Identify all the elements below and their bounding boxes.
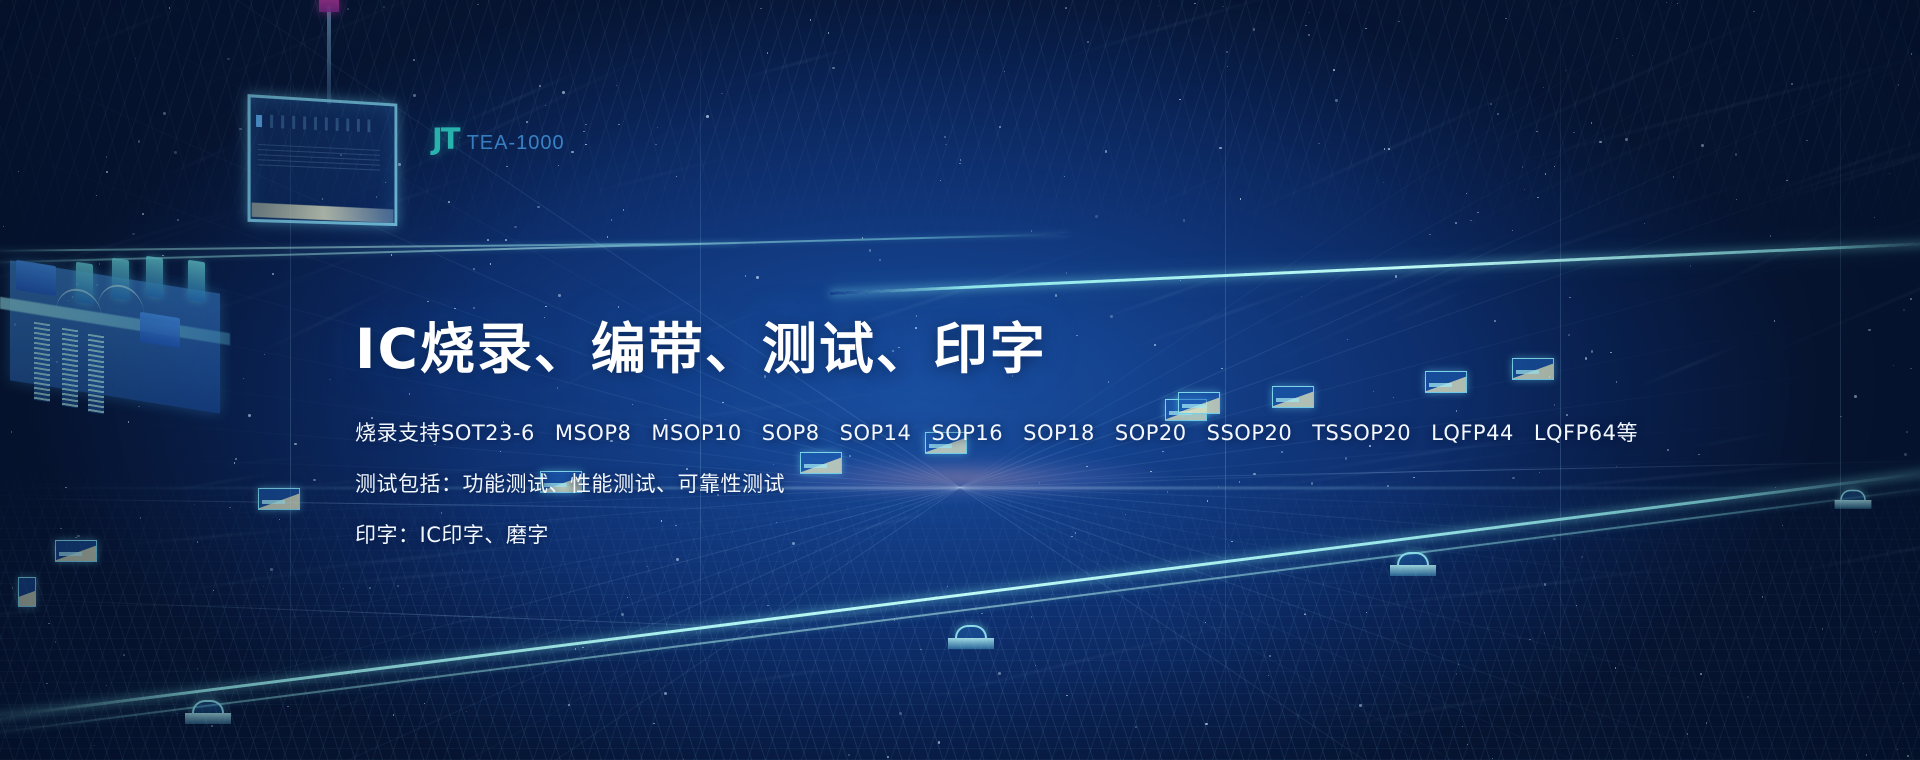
package-name: MSOP8 bbox=[555, 421, 632, 445]
package-name: SOP8 bbox=[762, 421, 820, 445]
page-title: IC烧录、编带、测试、印字 bbox=[355, 318, 1615, 381]
package-support-line: 烧录支持SOT23-6 MSOP8MSOP10SOP8SOP14SOP16SOP… bbox=[355, 417, 1615, 447]
hero-subtext: 烧录支持SOT23-6 MSOP8MSOP10SOP8SOP14SOP16SOP… bbox=[355, 417, 1615, 549]
package-name: SOP14 bbox=[840, 421, 912, 445]
package-name: SOP16 bbox=[931, 421, 1003, 445]
package-name: LQFP64等 bbox=[1534, 421, 1638, 445]
package-support-label: 烧录支持SOT23-6 bbox=[355, 417, 535, 447]
package-list: MSOP8MSOP10SOP8SOP14SOP16SOP18SOP20SSOP2… bbox=[555, 417, 1638, 447]
package-name: TSSOP20 bbox=[1312, 421, 1411, 445]
hero-banner: JT TEA-1000 IC烧录、编带、测试、印字 烧录支持SOT23-6 MS… bbox=[0, 0, 1920, 760]
marking-scope-line: 印字：IC印字、磨字 bbox=[355, 519, 1615, 549]
package-name: MSOP10 bbox=[651, 421, 741, 445]
package-name: LQFP44 bbox=[1431, 421, 1514, 445]
testing-scope-line: 测试包括：功能测试、性能测试、可靠性测试 bbox=[355, 468, 1615, 498]
package-name: SOP18 bbox=[1023, 421, 1095, 445]
package-name: SOP20 bbox=[1115, 421, 1187, 445]
package-name: SSOP20 bbox=[1207, 421, 1293, 445]
hero-copy: IC烧录、编带、测试、印字 烧录支持SOT23-6 MSOP8MSOP10SOP… bbox=[355, 318, 1615, 549]
